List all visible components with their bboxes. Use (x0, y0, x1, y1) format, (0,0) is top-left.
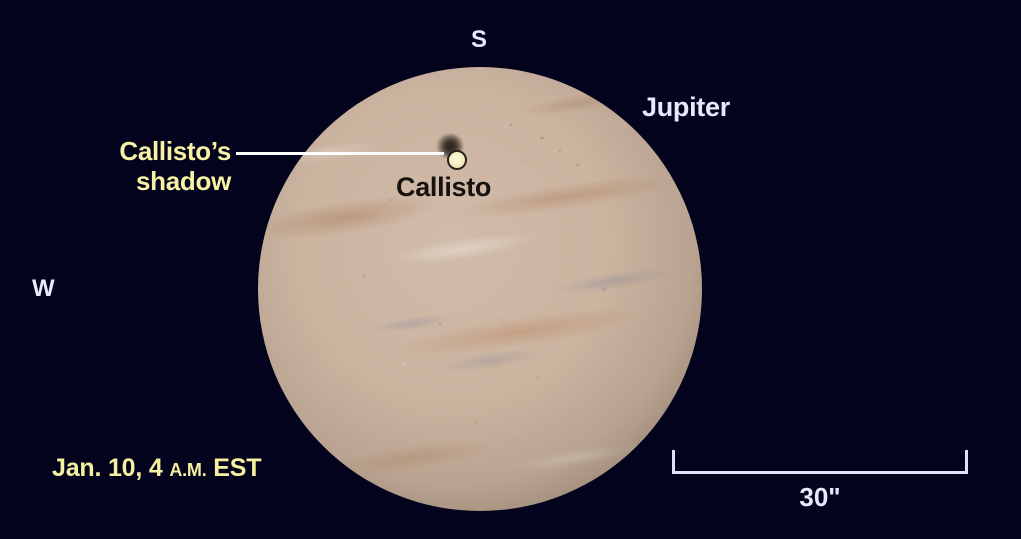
callisto-label: Callisto (396, 172, 491, 203)
jupiter-disc (258, 67, 702, 511)
scale-bar-tick-right (965, 450, 968, 474)
callisto-shadow-leader-line (236, 152, 444, 155)
datetime-prefix: Jan. 10, 4 (52, 454, 169, 482)
callisto-shadow-label: Callisto’sshadow (0, 136, 231, 196)
jupiter-label: Jupiter (642, 92, 730, 123)
observation-datetime-label: Jan. 10, 4 A.M. EST (52, 454, 261, 483)
datetime-suffix: EST (207, 454, 262, 482)
angular-scale-bar (672, 450, 968, 474)
cardinal-marker-south: S (471, 26, 487, 54)
scale-bar-rule (672, 471, 968, 474)
callisto-moon-icon (447, 150, 467, 170)
sky-chart-scene: Callisto’sshadow Callisto Jupiter S W Ja… (0, 0, 1021, 539)
jupiter-limb-darkening (258, 67, 702, 511)
cardinal-marker-west: W (32, 275, 55, 303)
datetime-meridiem: A.M. (169, 460, 206, 480)
callisto-shadow-label-line2: shadow (136, 166, 231, 196)
callisto-shadow-label-line1: Callisto’s (119, 136, 231, 166)
scale-bar-label: 30" (672, 482, 968, 513)
